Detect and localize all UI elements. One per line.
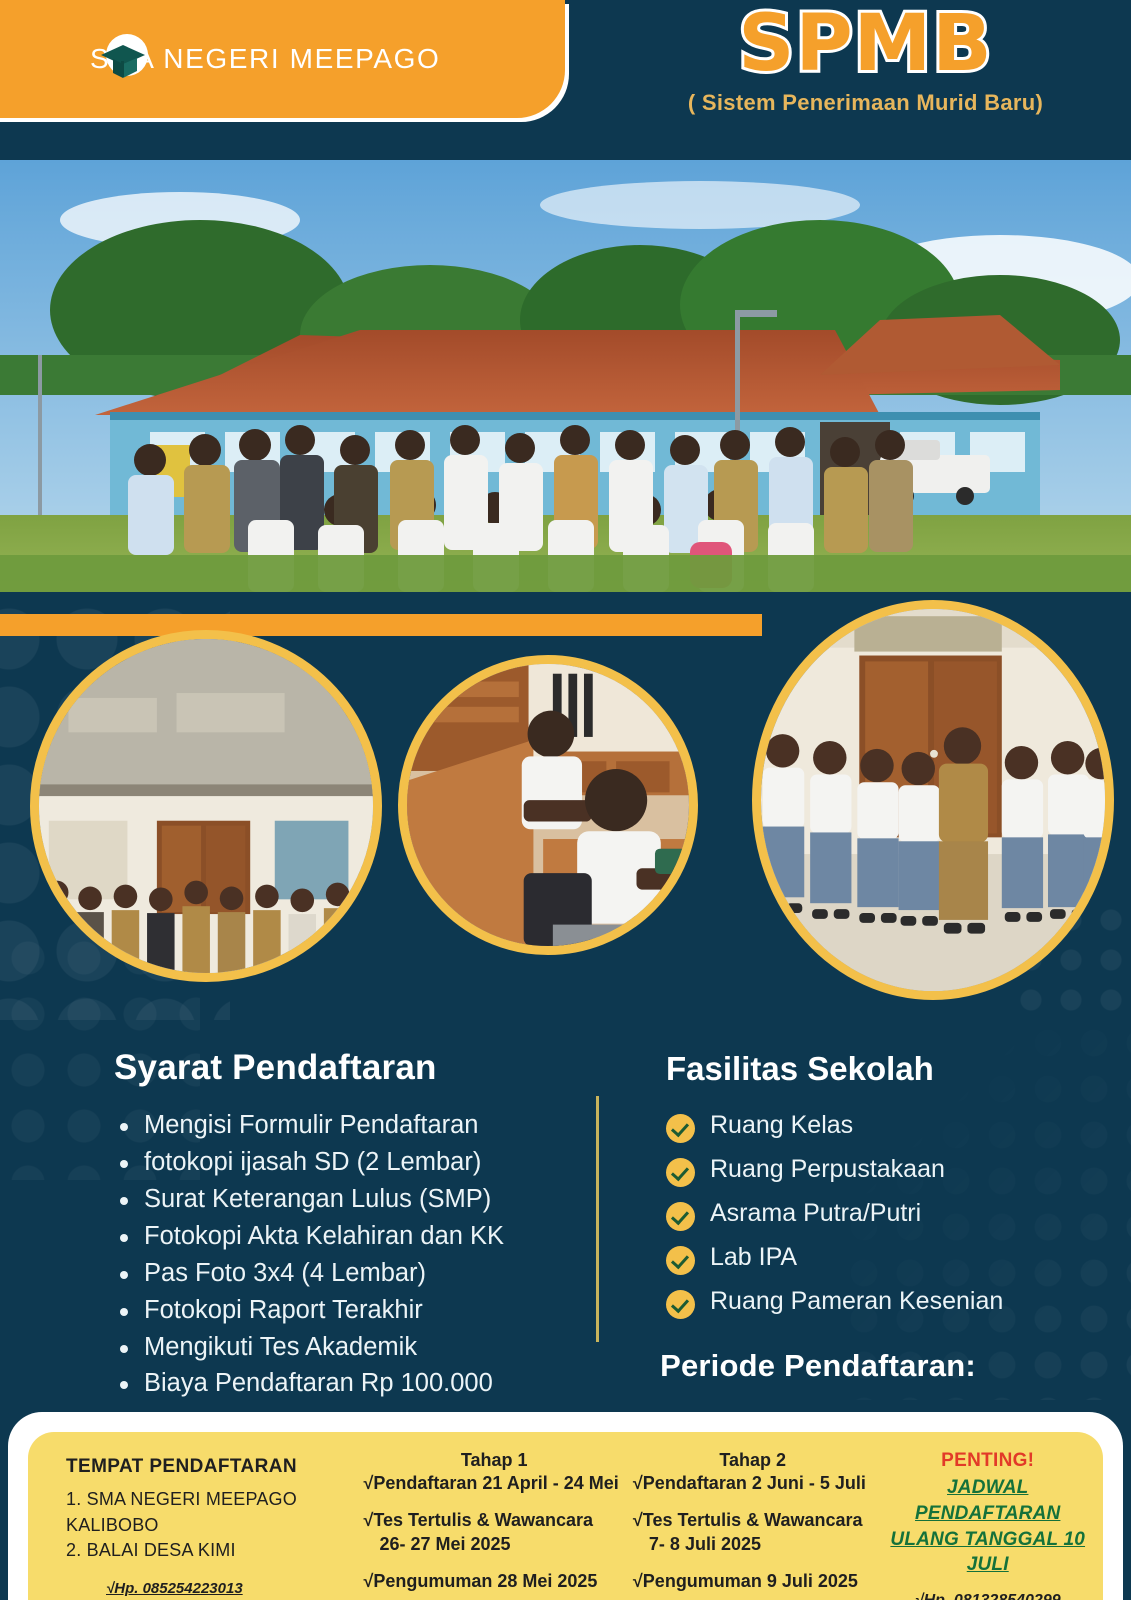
list-item: Biaya Pendaftaran Rp 100.000: [116, 1366, 564, 1401]
tahap1-item-3: √Pengumuman 28 Mei 2025: [363, 1570, 624, 1593]
footer-important-column: PENTING! JADWAL PENDAFTARAN ULANG TANGGA…: [872, 1432, 1103, 1600]
list-item: Ruang Perpustakaan: [666, 1154, 1080, 1187]
important-line-1: JADWAL PENDAFTARAN: [872, 1475, 1103, 1527]
requirements-title: Syarat Pendaftaran: [114, 1048, 564, 1088]
important-phone[interactable]: √Hp. 081328540299: [872, 1592, 1103, 1600]
circle-photo-students: [752, 600, 1114, 1000]
column-divider: [596, 1096, 599, 1342]
place-phone[interactable]: √Hp. 085254223013: [106, 1580, 357, 1597]
requirements-list: Mengisi Formulir Pendaftaran fotokopi ij…: [84, 1108, 564, 1401]
hero-photo: [0, 160, 1131, 592]
place-title: TEMPAT PENDAFTARAN: [66, 1456, 357, 1478]
list-item: Mengisi Formulir Pendaftaran: [116, 1108, 564, 1143]
check-circle-icon: [666, 1246, 695, 1275]
list-item: fotokopi ijasah SD (2 Lembar): [116, 1145, 564, 1180]
place-line-2: 2. BALAI DESA KIMI: [66, 1538, 357, 1564]
facility-label: Ruang Perpustakaan: [710, 1154, 945, 1185]
tahap1-item-2: √Tes Tertulis & Wawancara 26- 27 Mei 202…: [363, 1509, 624, 1556]
tahap1-item-2-main: √Tes Tertulis & Wawancara: [363, 1510, 593, 1530]
check-circle-icon: [666, 1114, 695, 1143]
orange-accent-bar: [0, 614, 762, 636]
school-name-pill: SMA NEGERI MEEPAGO: [0, 0, 565, 118]
graduation-cap-icon: [95, 29, 155, 89]
footer-tahap1-column: Tahap 1 √Pendaftaran 21 April - 24 Mei √…: [357, 1432, 624, 1600]
tahap1-item-2-sub: 26- 27 Mei 2025: [363, 1533, 624, 1556]
list-item: Mengikuti Tes Akademik: [116, 1330, 564, 1365]
tahap2-item-2-main: √Tes Tertulis & Wawancara: [633, 1510, 863, 1530]
facilities-list: Ruang Kelas Ruang Perpustakaan Asrama Pu…: [650, 1110, 1080, 1319]
list-item: Fotokopi Raport Terakhir: [116, 1293, 564, 1328]
check-circle-icon: [666, 1158, 695, 1187]
tahap2-item-1: √Pendaftaran 2 Juni - 5 Juli: [633, 1472, 873, 1495]
facility-label: Ruang Pameran Kesenian: [710, 1286, 1003, 1317]
important-label: PENTING!: [872, 1450, 1103, 1472]
footer-tahap2-column: Tahap 2 √Pendaftaran 2 Juni - 5 Juli √Te…: [625, 1432, 873, 1600]
check-circle-icon: [666, 1290, 695, 1319]
list-item: Fotokopi Akta Kelahiran dan KK: [116, 1219, 564, 1254]
list-item: Lab IPA: [666, 1242, 1080, 1275]
tahap2-item-3: √Pengumuman 9 Juli 2025: [633, 1570, 873, 1593]
spmb-acronym: SPMB: [600, 4, 1131, 86]
poster-root: SMA NEGERI MEEPAGO SPMB ( Sistem Penerim…: [0, 0, 1131, 1600]
poster-header: SMA NEGERI MEEPAGO SPMB ( Sistem Penerim…: [0, 0, 1131, 148]
spmb-expansion: ( Sistem Penerimaan Murid Baru): [600, 90, 1131, 116]
facilities-section: Fasilitas Sekolah Ruang Kelas Ruang Perp…: [650, 1050, 1080, 1330]
footer-bar: TEMPAT PENDAFTARAN 1. SMA NEGERI MEEPAGO…: [28, 1432, 1103, 1600]
requirements-section: Syarat Pendaftaran Mengisi Formulir Pend…: [84, 1048, 564, 1403]
facility-label: Lab IPA: [710, 1242, 797, 1273]
tahap2-title: Tahap 2: [633, 1450, 873, 1471]
check-circle-icon: [666, 1202, 695, 1231]
list-item: Asrama Putra/Putri: [666, 1198, 1080, 1231]
list-item: Surat Keterangan Lulus (SMP): [116, 1182, 564, 1217]
circle-photo-teachers: [30, 630, 382, 982]
tahap2-item-2: √Tes Tertulis & Wawancara 7- 8 Juli 2025: [633, 1509, 873, 1556]
circle-photo-study-room: [398, 655, 698, 955]
tahap2-item-2-sub: 7- 8 Juli 2025: [633, 1533, 873, 1556]
footer-place-column: TEMPAT PENDAFTARAN 1. SMA NEGERI MEEPAGO…: [28, 1432, 357, 1600]
list-item: Pas Foto 3x4 (4 Lembar): [116, 1256, 564, 1291]
facility-label: Asrama Putra/Putri: [710, 1198, 921, 1229]
tahap1-title: Tahap 1: [363, 1450, 624, 1471]
tahap1-item-1: √Pendaftaran 21 April - 24 Mei: [363, 1472, 624, 1495]
facility-label: Ruang Kelas: [710, 1110, 853, 1141]
place-line-1: 1. SMA NEGERI MEEPAGO KALIBOBO: [66, 1487, 357, 1538]
spmb-title-block: SPMB ( Sistem Penerimaan Murid Baru): [600, 4, 1131, 116]
list-item: Ruang Kelas: [666, 1110, 1080, 1143]
facilities-title: Fasilitas Sekolah: [666, 1050, 1080, 1088]
list-item: Ruang Pameran Kesenian: [666, 1286, 1080, 1319]
periode-title: Periode Pendaftaran:: [608, 1348, 1028, 1384]
important-line-2: ULANG TANGGAL 10 JULI: [872, 1527, 1103, 1579]
